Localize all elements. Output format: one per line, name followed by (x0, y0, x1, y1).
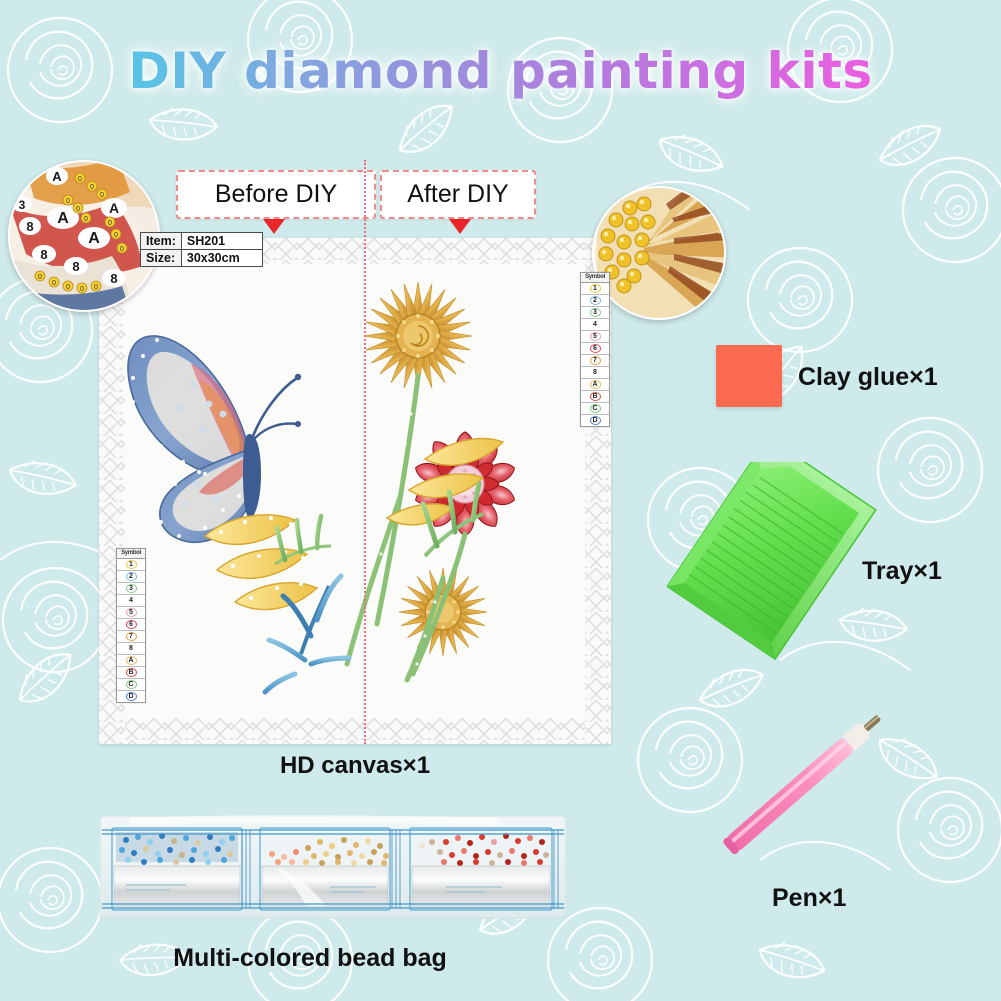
symbol-legend-cell: 1 (581, 283, 609, 295)
after-diy-magnifier-art (594, 188, 724, 318)
symbol-legend-cell: 7 (117, 631, 145, 643)
bead-bag-image (100, 812, 566, 922)
svg-text:0: 0 (114, 232, 118, 239)
svg-text:0: 0 (66, 198, 70, 205)
callout-before-arrow-icon (263, 219, 285, 234)
symbol-legend-right-header: Symbol (581, 273, 609, 283)
pen-image (658, 692, 918, 902)
page-title: DIY diamond painting kits (0, 42, 1001, 100)
symbol-glyph: D (590, 416, 601, 425)
symbol-legend-right: Symbol 12345678ABCD (580, 272, 610, 427)
tray-label: Tray×1 (862, 557, 942, 586)
symbol-glyph: C (126, 680, 137, 689)
symbol-legend-cell: 7 (581, 355, 609, 367)
svg-text:A: A (88, 230, 100, 247)
svg-text:0: 0 (94, 284, 98, 291)
svg-text:0: 0 (90, 184, 94, 191)
symbol-glyph: 8 (590, 368, 601, 377)
symbol-legend-right-body: 12345678ABCD (581, 283, 609, 426)
svg-text:A: A (57, 210, 69, 227)
callout-after-arrow-icon (449, 219, 471, 234)
before-after-divider (364, 160, 366, 744)
canvas-info-table: Item: SH201 Size: 30x30cm (140, 232, 263, 267)
svg-text:8: 8 (26, 219, 33, 234)
clay-glue-image (716, 345, 782, 407)
symbol-legend-cell: 2 (581, 295, 609, 307)
symbol-glyph: B (590, 392, 601, 401)
symbol-legend-cell: 3 (581, 307, 609, 319)
info-size-key: Size: (141, 250, 182, 267)
callout-before-diy: Before DIY (176, 170, 376, 219)
info-item-key: Item: (141, 233, 182, 250)
symbol-legend-cell: D (117, 691, 145, 702)
symbol-legend-cell: D (581, 415, 609, 426)
tray-image (652, 462, 882, 662)
symbol-legend-cell: 3 (117, 583, 145, 595)
symbol-legend-cell: C (581, 403, 609, 415)
symbol-glyph: 2 (126, 572, 137, 581)
after-diy-magnifier (592, 186, 726, 320)
symbol-legend-cell: 1 (117, 559, 145, 571)
svg-text:0: 0 (78, 176, 82, 183)
svg-text:0: 0 (80, 286, 84, 293)
svg-text:A: A (109, 200, 119, 216)
clay-glue-label: Clay glue×1 (798, 363, 938, 392)
symbol-glyph: 7 (590, 356, 601, 365)
before-diy-magnifier-art: A A A A 8 8 8 8 3 000 000 000 0 (10, 162, 158, 310)
canvas-artwork (125, 264, 585, 718)
symbol-glyph: C (590, 404, 601, 413)
svg-text:0: 0 (108, 220, 112, 227)
symbol-legend-cell: 6 (117, 619, 145, 631)
svg-text:0: 0 (76, 206, 80, 213)
symbol-glyph: 4 (126, 596, 137, 605)
symbol-glyph: A (590, 380, 601, 389)
info-row-item: Item: SH201 (141, 233, 263, 250)
before-diy-magnifier: A A A A 8 8 8 8 3 000 000 000 0 (8, 160, 160, 312)
hd-canvas-image (99, 238, 611, 744)
svg-text:3: 3 (19, 198, 26, 212)
hd-canvas-label: HD canvas×1 (99, 752, 611, 780)
symbol-glyph: 1 (590, 284, 601, 293)
svg-text:8: 8 (40, 247, 47, 262)
symbol-legend-left: Symbol 12345678ABCD (116, 548, 146, 703)
symbol-glyph: 5 (590, 332, 601, 341)
symbol-glyph: 5 (126, 608, 137, 617)
svg-text:0: 0 (84, 216, 88, 223)
symbol-glyph: 4 (590, 320, 601, 329)
symbol-legend-cell: 8 (581, 367, 609, 379)
symbol-legend-cell: A (581, 379, 609, 391)
symbol-glyph: D (126, 692, 137, 701)
bead-bag-label: Multi-colored bead bag (0, 944, 620, 973)
symbol-glyph: 1 (126, 560, 137, 569)
symbol-legend-cell: 5 (581, 331, 609, 343)
callout-after-label: After DIY (407, 180, 508, 209)
svg-text:0: 0 (52, 280, 56, 287)
svg-text:A: A (52, 169, 62, 184)
symbol-glyph: B (126, 668, 137, 677)
info-item-value: SH201 (181, 233, 262, 250)
symbol-glyph: 3 (126, 584, 137, 593)
symbol-legend-cell: 6 (581, 343, 609, 355)
product-infographic: DIY diamond painting kits Before DIY Aft… (0, 0, 1001, 1001)
symbol-legend-cell: C (117, 679, 145, 691)
info-size-value: 30x30cm (181, 250, 262, 267)
symbol-legend-cell: B (581, 391, 609, 403)
canvas-border-bottom (99, 718, 611, 744)
svg-text:0: 0 (38, 274, 42, 281)
symbol-glyph: A (126, 656, 137, 665)
svg-text:8: 8 (72, 259, 79, 274)
symbol-legend-cell: 4 (581, 319, 609, 331)
symbol-glyph: 2 (590, 296, 601, 305)
symbol-legend-cell: 4 (117, 595, 145, 607)
symbol-glyph: 3 (590, 308, 601, 317)
symbol-legend-left-body: 12345678ABCD (117, 559, 145, 702)
symbol-legend-cell: A (117, 655, 145, 667)
symbol-glyph: 6 (590, 344, 601, 353)
callout-after-diy: After DIY (380, 170, 536, 219)
svg-text:8: 8 (110, 271, 117, 286)
symbol-legend-left-header: Symbol (117, 549, 145, 559)
symbol-legend-cell: B (117, 667, 145, 679)
info-row-size: Size: 30x30cm (141, 250, 263, 267)
symbol-legend-cell: 5 (117, 607, 145, 619)
pen-label: Pen×1 (772, 884, 846, 913)
quilled-artwork-svg (125, 264, 585, 718)
symbol-glyph: 8 (126, 644, 137, 653)
svg-text:0: 0 (66, 284, 70, 291)
symbol-glyph: 6 (126, 620, 137, 629)
svg-text:0: 0 (120, 246, 124, 253)
symbol-glyph: 7 (126, 632, 137, 641)
symbol-legend-cell: 2 (117, 571, 145, 583)
callout-before-label: Before DIY (215, 180, 337, 209)
symbol-legend-cell: 8 (117, 643, 145, 655)
svg-text:0: 0 (100, 192, 104, 199)
